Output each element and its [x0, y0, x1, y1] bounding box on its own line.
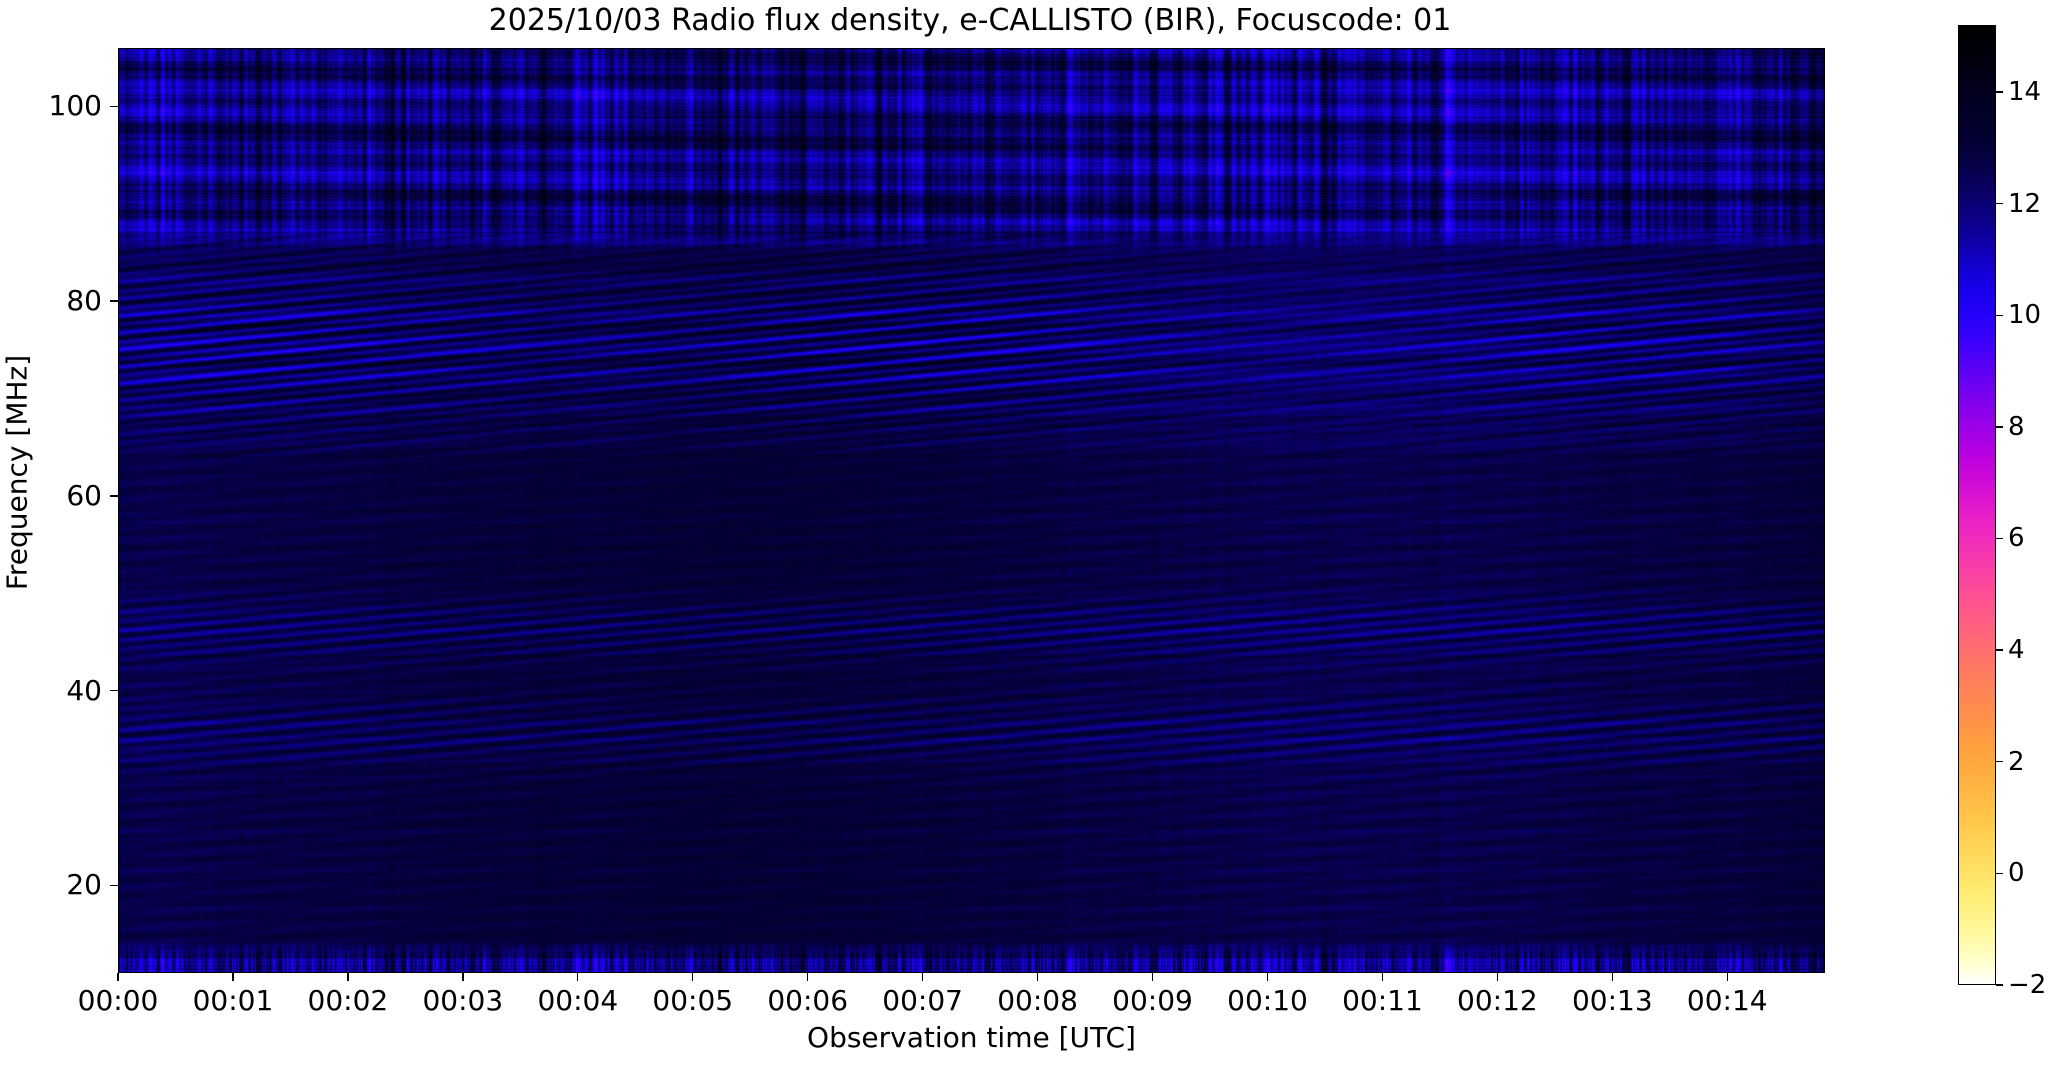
plot-area[interactable]	[118, 48, 1825, 973]
colorbar-tick-mark	[1996, 538, 2003, 539]
colorbar-gradient	[1959, 26, 1995, 984]
x-tick-mark	[1267, 973, 1268, 981]
x-tick-mark	[1497, 973, 1498, 981]
colorbar-tick-mark	[1996, 426, 2003, 427]
colorbar-tick-label: 12	[2008, 191, 2041, 217]
colorbar-tick-label: 0	[2008, 860, 2025, 886]
spectrogram-canvas	[119, 49, 1824, 972]
colorbar-tick-label: 14	[2008, 79, 2041, 105]
y-tick-mark	[110, 300, 118, 301]
colorbar-tick-mark	[1996, 873, 2003, 874]
x-tick-mark	[807, 973, 808, 981]
colorbar-tick-mark	[1996, 649, 2003, 650]
spectrogram-image	[119, 49, 1824, 972]
colorbar-tick-label: −2	[2008, 972, 2046, 998]
y-tick-label: 80	[12, 287, 102, 315]
colorbar-tick-mark	[1996, 761, 2003, 762]
x-tick-mark	[577, 973, 578, 981]
x-tick-mark	[1382, 973, 1383, 981]
y-tick-mark	[110, 495, 118, 496]
x-tick-mark	[347, 973, 348, 981]
y-tick-label: 60	[12, 482, 102, 510]
y-tick-mark	[110, 106, 118, 107]
x-tick-mark	[117, 973, 118, 981]
y-tick-mark	[110, 690, 118, 691]
colorbar-tick-label: 2	[2008, 749, 2025, 775]
y-tick-label: 20	[12, 871, 102, 899]
page-title: 2025/10/03 Radio flux density, e-CALLIST…	[0, 4, 1940, 38]
y-tick-label: 40	[12, 677, 102, 705]
colorbar-bar	[1958, 25, 1996, 985]
x-tick-mark	[232, 973, 233, 981]
x-tick-mark	[1727, 973, 1728, 981]
spectrogram-figure: 2025/10/03 Radio flux density, e-CALLIST…	[0, 0, 2066, 1067]
colorbar: −202468101214	[1958, 25, 1996, 985]
x-tick-mark	[1037, 973, 1038, 981]
y-tick-mark	[110, 885, 118, 886]
y-tick-label: 100	[12, 92, 102, 120]
colorbar-tick-label: 4	[2008, 637, 2025, 663]
y-axis-label: Frequency [MHz]	[1, 8, 34, 938]
colorbar-tick-mark	[1996, 91, 2003, 92]
colorbar-tick-mark	[1996, 203, 2003, 204]
colorbar-tick-label: 6	[2008, 525, 2025, 551]
colorbar-tick-mark	[1996, 315, 2003, 316]
x-tick-mark	[692, 973, 693, 981]
colorbar-tick-label: 8	[2008, 414, 2025, 440]
x-axis-label: Observation time [UTC]	[118, 1021, 1825, 1054]
x-tick-mark	[922, 973, 923, 981]
x-tick-mark	[1612, 973, 1613, 981]
x-tick-mark	[462, 973, 463, 981]
x-tick-mark	[1152, 973, 1153, 981]
x-tick-label: 00:14	[1657, 986, 1797, 1016]
colorbar-tick-mark	[1996, 984, 2003, 985]
colorbar-tick-label: 10	[2008, 302, 2041, 328]
